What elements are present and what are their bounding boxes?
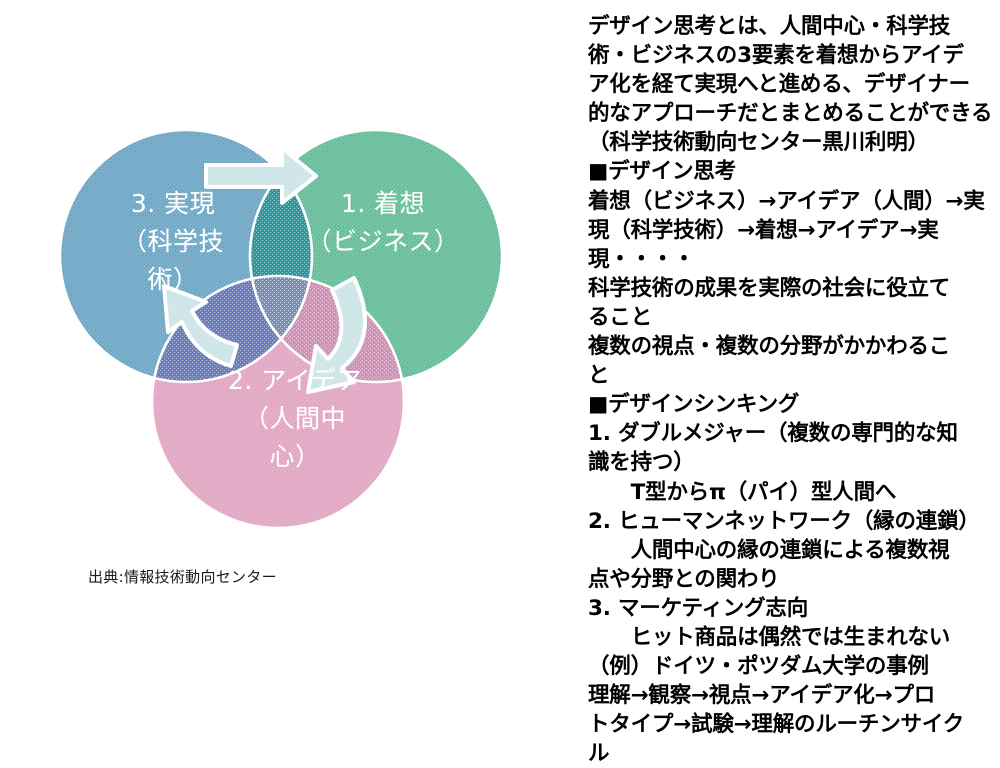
notes-line: デザイン思考とは、人間中心・科学技 xyxy=(588,12,986,41)
notes-panel: デザイン思考とは、人間中心・科学技術・ビジネスの3要素を着想からアイデア化を経て… xyxy=(588,12,986,702)
notes-line: 複数の視点・複数の分野がかかわるこ xyxy=(588,332,986,361)
notes-line: ル xyxy=(588,739,986,768)
notes-line: 現・・・・ xyxy=(588,245,986,274)
notes-line: トタイプ→試験→理解のルーチンサイク xyxy=(588,710,986,739)
notes-line: ア化を経て実現へと進める、デザイナー xyxy=(588,70,986,99)
notes-line: 人間中心の縁の連鎖による複数視 xyxy=(588,536,986,565)
notes-line: ること xyxy=(588,303,986,332)
notes-line: 術・ビジネスの3要素を着想からアイデ xyxy=(588,41,986,70)
notes-line: （科学技術動向センター黒川利明） xyxy=(588,128,986,157)
notes-line: T型からπ（パイ）型人間へ xyxy=(588,478,986,507)
notes-line: ヒット商品は偶然では生まれない xyxy=(588,623,986,652)
page-root: 3. 実現 （科学技 術） 1. 着想 （ビジネス） 2. アイデア （人間中 … xyxy=(0,0,1000,706)
venn-diagram-panel: 3. 実現 （科学技 術） 1. 着想 （ビジネス） 2. アイデア （人間中 … xyxy=(0,0,570,706)
notes-line: 的なアプローチだとまとめることができる xyxy=(588,99,986,128)
notes-line: 着想（ビジネス）→アイデア（人間）→実 xyxy=(588,187,986,216)
notes-line: 1. ダブルメジャー（複数の専門的な知 xyxy=(588,419,986,448)
notes-line: 科学技術の成果を実際の社会に役立て xyxy=(588,274,986,303)
venn-diagram-svg xyxy=(20,110,540,560)
notes-line: ■デザインシンキング xyxy=(588,390,986,419)
notes-line: 識を持つ） xyxy=(588,448,986,477)
notes-line: 2. ヒューマンネットワーク（縁の連鎖） xyxy=(588,507,986,536)
notes-line: ■デザイン思考 xyxy=(588,157,986,186)
notes-line: 3. マーケティング志向 xyxy=(588,594,986,623)
notes-line: 点や分野との関わり xyxy=(588,565,986,594)
venn-source-caption: 出典:情報技術動向センター xyxy=(88,566,277,587)
notes-line: （例）ドイツ・ポツダム大学の事例 xyxy=(588,652,986,681)
notes-line: と xyxy=(588,361,986,390)
notes-line: 現（科学技術）→着想→アイデア→実 xyxy=(588,216,986,245)
